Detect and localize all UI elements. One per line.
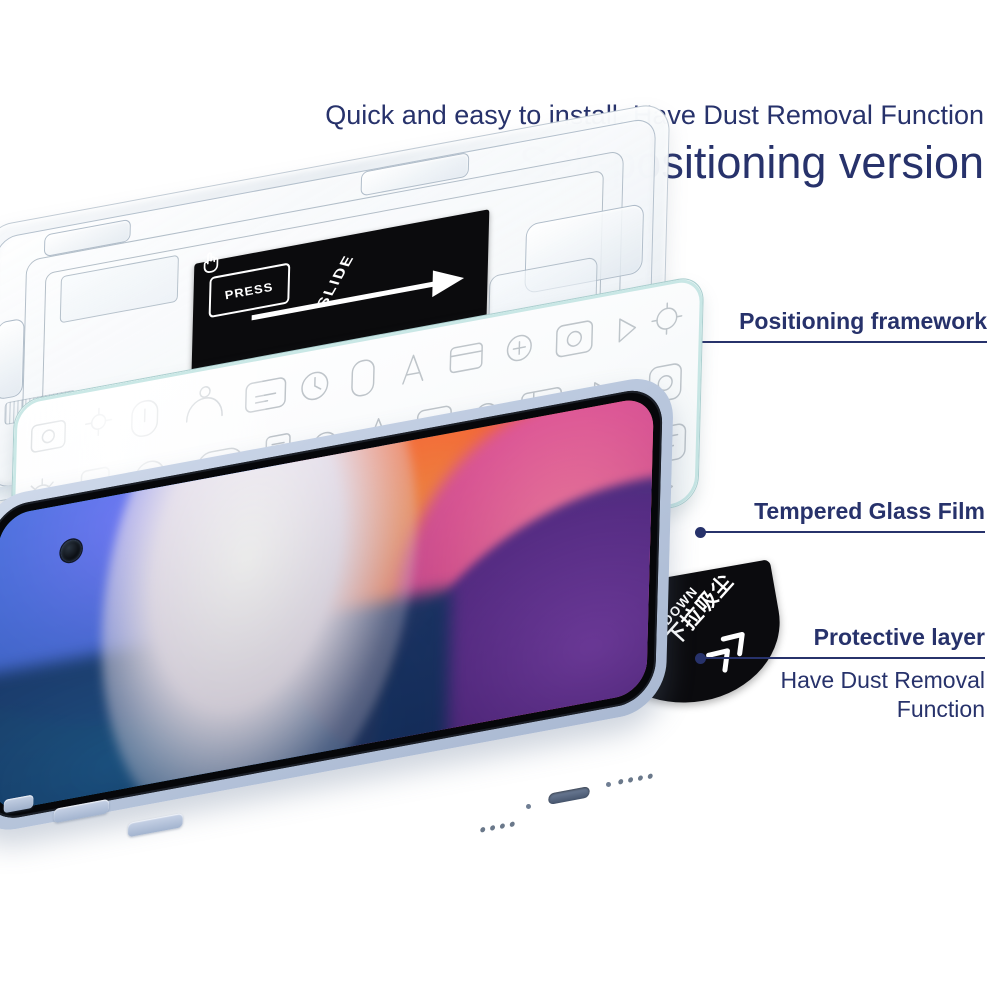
speaker-grille-icon-right	[618, 764, 658, 790]
product-infographic: Quick and easy to install, Have Dust Rem…	[0, 0, 1000, 1000]
callout-leader-line-3	[700, 657, 985, 659]
press-label: PRESS	[224, 279, 274, 301]
callout-sublabel-line2: Function	[700, 695, 985, 724]
callout-leader-line-1	[695, 341, 987, 343]
screw-icon-right	[606, 782, 611, 787]
subtitle-text: Quick and easy to install, Have Dust Rem…	[14, 98, 984, 132]
volume-down-button-icon	[128, 813, 183, 838]
callout-label-positioning-framework: Positioning framework	[695, 308, 987, 335]
speaker-grille-icon	[480, 812, 520, 838]
callout-dot-3	[695, 653, 706, 664]
hand-press-icon	[198, 246, 224, 277]
screw-icon-left	[526, 804, 531, 809]
callout-label-protective-layer: Protective layer	[700, 624, 985, 651]
lightning-port-icon	[548, 786, 590, 805]
callout-positioning-framework: Positioning framework	[695, 308, 987, 343]
phone-bottom-edge	[440, 754, 740, 874]
callout-protective-layer: Protective layer Have Dust Removal Funct…	[700, 624, 985, 724]
callout-sublabel-line1: Have Dust Removal	[700, 666, 985, 695]
phone-illustration	[0, 500, 780, 970]
frame-clip-left	[0, 318, 25, 401]
